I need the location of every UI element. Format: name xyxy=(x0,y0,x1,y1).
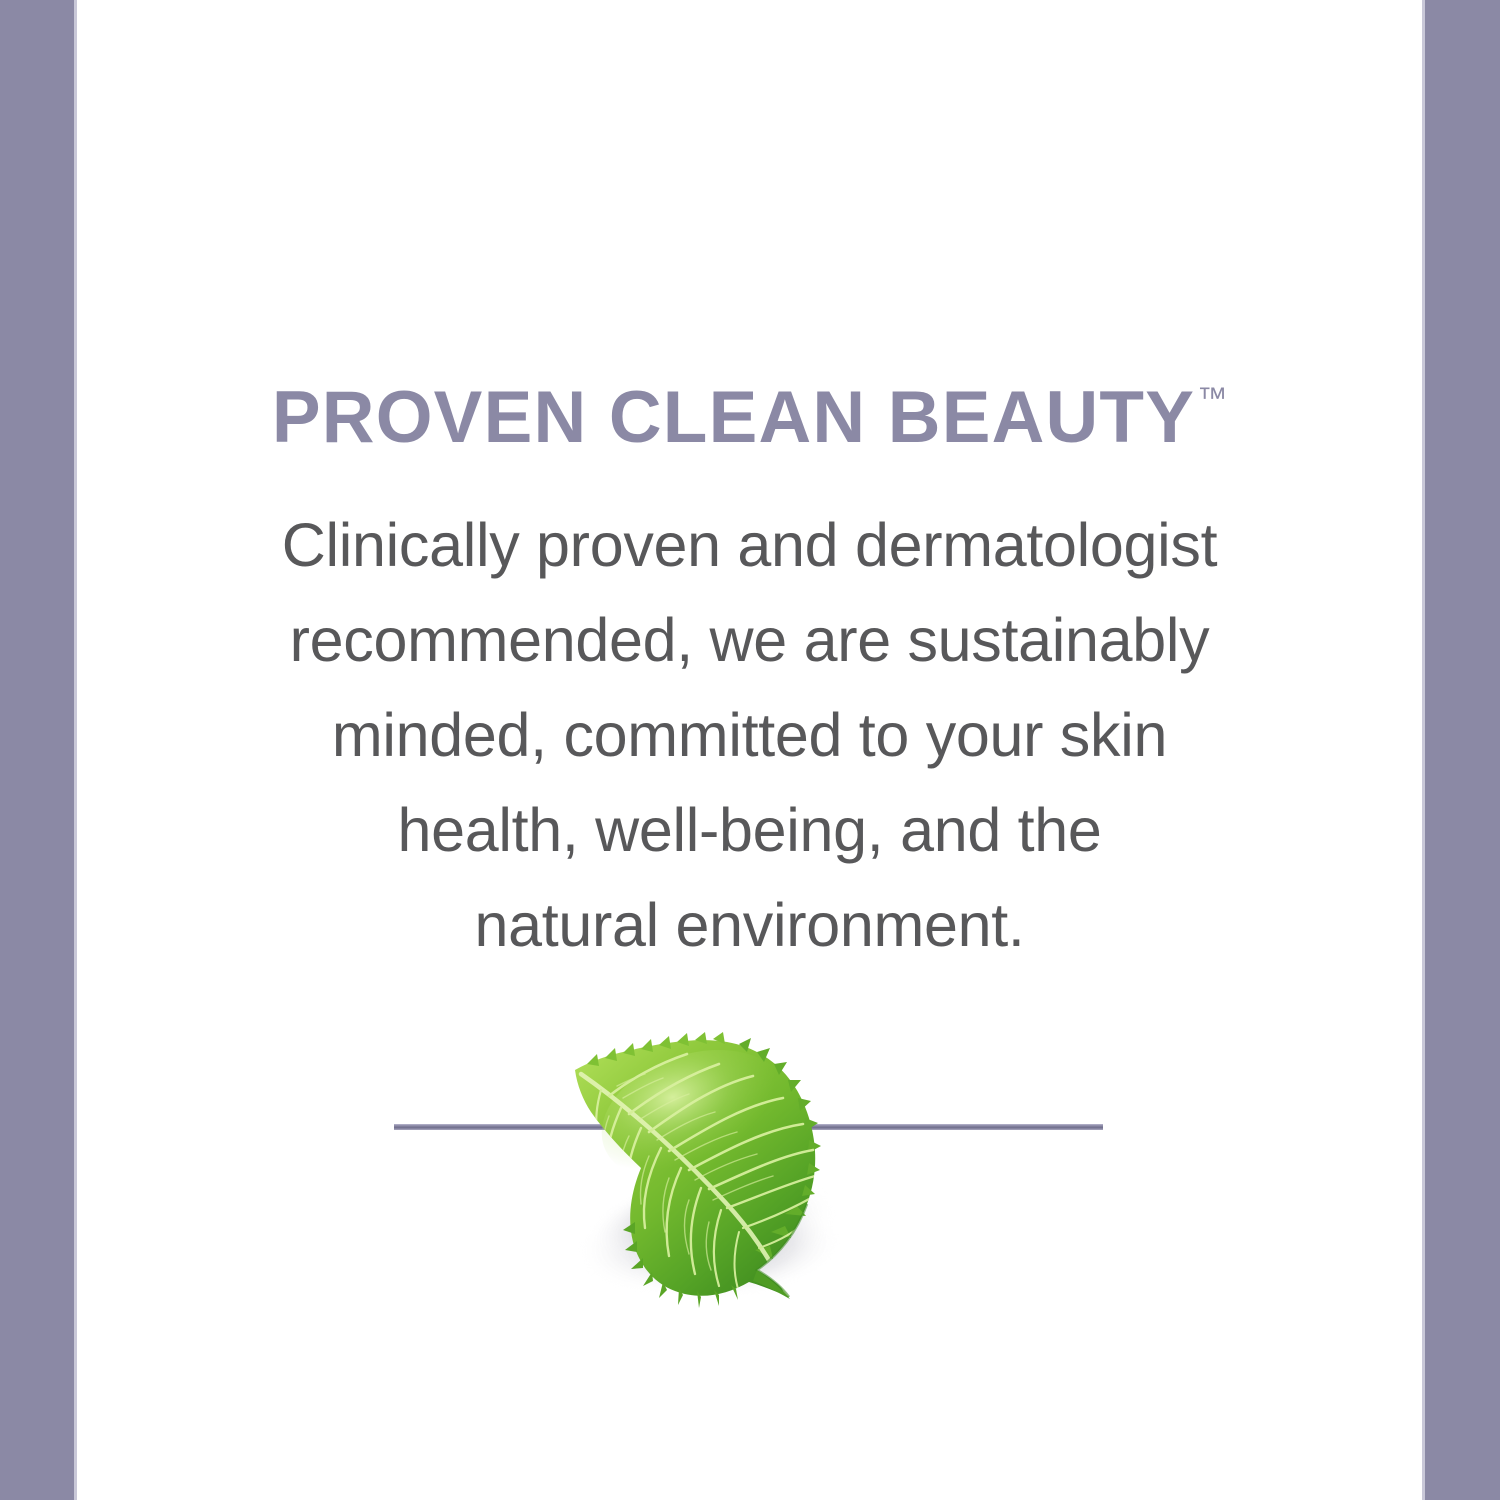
body-line: Clinically proven and dermatologist xyxy=(77,498,1422,593)
brand-panel: PROVEN CLEAN BEAUTY™ Clinically proven a… xyxy=(0,0,1500,1500)
body-paragraph: Clinically proven and dermatologist reco… xyxy=(77,498,1422,973)
left-accent-bar xyxy=(0,0,74,1500)
content-area: PROVEN CLEAN BEAUTY™ Clinically proven a… xyxy=(77,0,1422,1500)
body-line: natural environment. xyxy=(77,878,1422,973)
page-title: PROVEN CLEAN BEAUTY™ xyxy=(77,381,1422,454)
body-line: recommended, we are sustainably xyxy=(77,593,1422,688)
leaf-illustration xyxy=(557,1020,887,1340)
emblem-group xyxy=(77,1020,1422,1340)
right-accent-bar-edge xyxy=(1422,0,1425,1500)
body-line: minded, committed to your skin xyxy=(77,688,1422,783)
trademark-icon: ™ xyxy=(1197,382,1227,415)
right-accent-bar xyxy=(1425,0,1500,1500)
page-title-text: PROVEN CLEAN BEAUTY xyxy=(272,377,1195,458)
body-line: health, well-being, and the xyxy=(77,783,1422,878)
